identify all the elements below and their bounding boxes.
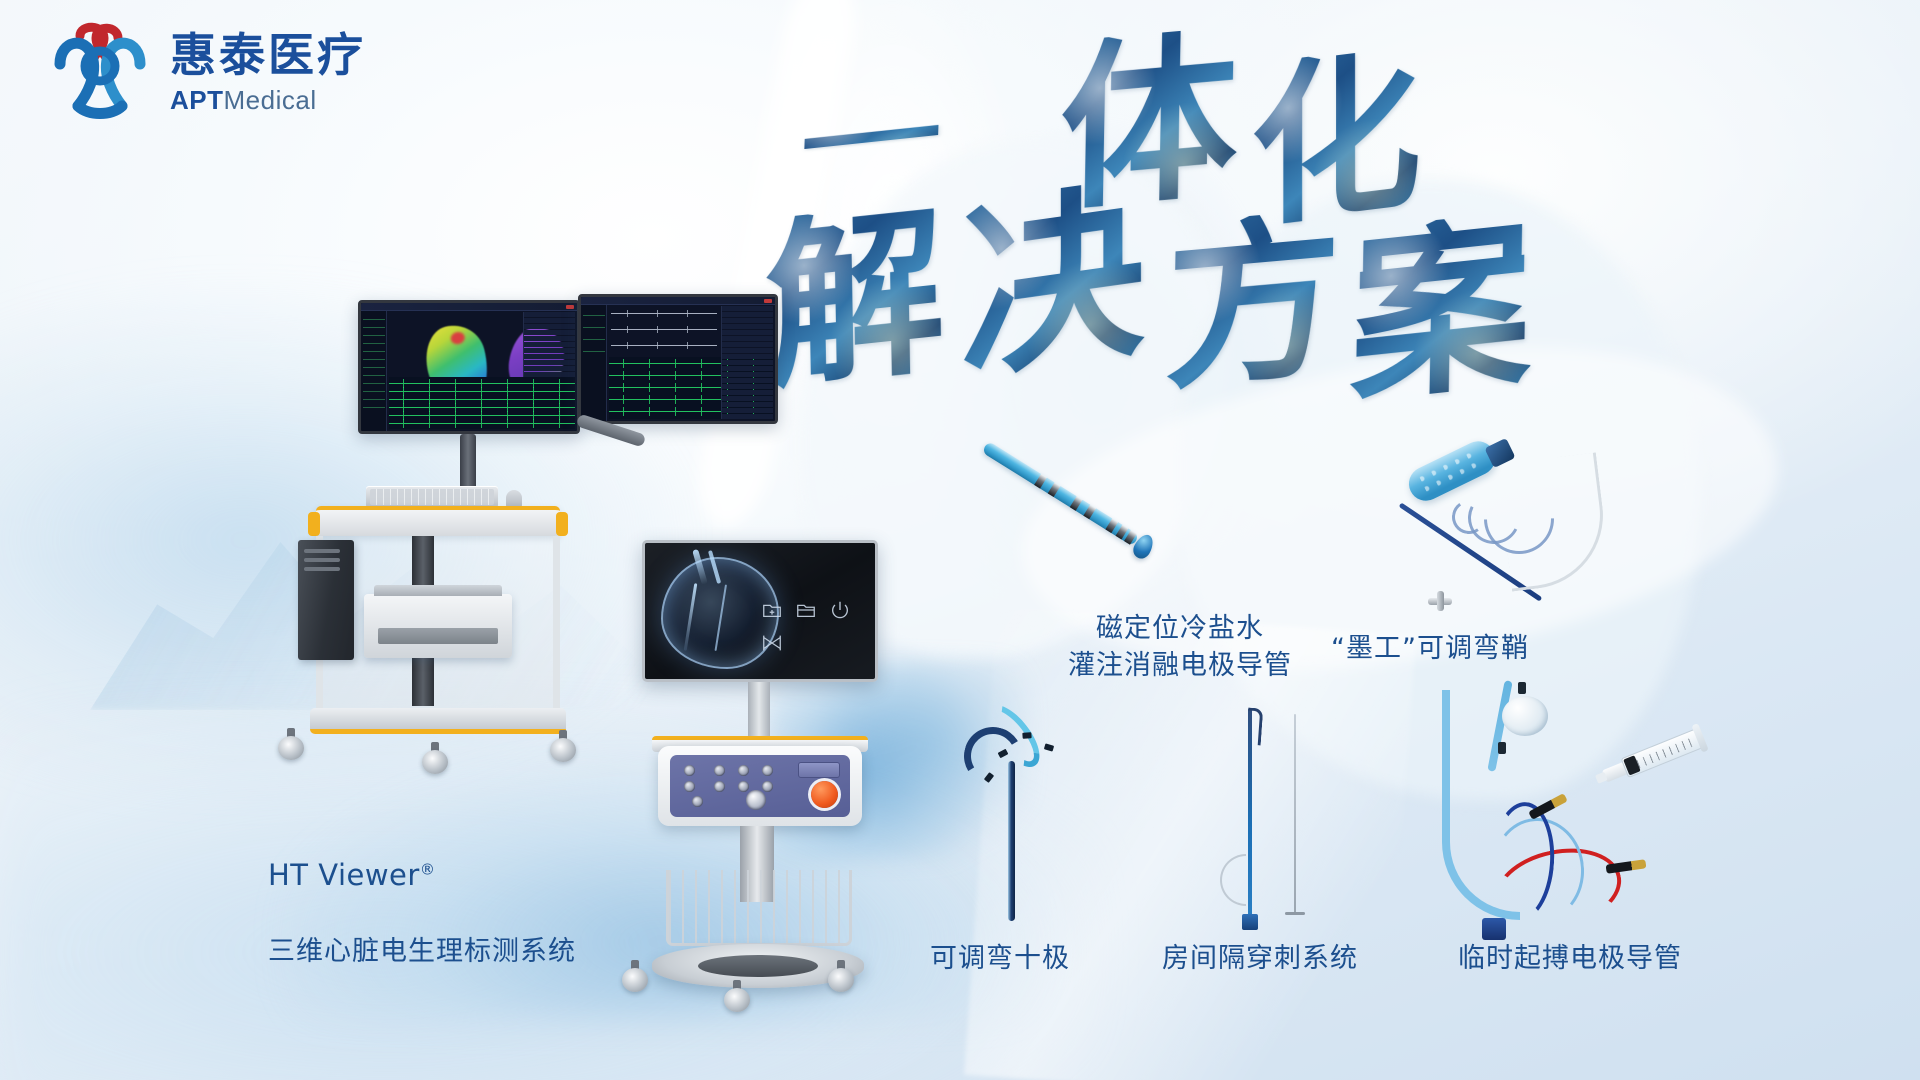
- generator-display: [798, 762, 840, 778]
- screen-toolbar-right: [581, 297, 775, 305]
- connector-port[interactable]: [738, 765, 749, 776]
- generator-cart: [630, 540, 930, 1020]
- cart-base-shelf: [310, 708, 566, 734]
- transseptal-needle: [1248, 708, 1252, 920]
- decapolar-shaft: [1008, 761, 1015, 921]
- apt-medical-logo-icon: [46, 20, 154, 124]
- connector-port[interactable]: [684, 781, 695, 792]
- label-ablation-catheter: 磁定位冷盐水 灌注消融电极导管: [1010, 610, 1350, 685]
- caster-wheel: [828, 960, 854, 992]
- connector-port[interactable]: [762, 781, 773, 792]
- transseptal-puncture-system: [1200, 700, 1320, 930]
- left-monitor-screen: [361, 303, 577, 431]
- right-monitor-screen: [581, 297, 775, 421]
- guidewire-loop: [1220, 854, 1246, 906]
- electrode-band: [1022, 732, 1031, 739]
- catheter-shaft: [982, 441, 1140, 546]
- steerable-decapolar-catheter: [950, 715, 1110, 925]
- brand-name-en-light: Medical: [224, 85, 317, 115]
- cart-wire-basket: [666, 870, 852, 946]
- connector-port[interactable]: [738, 781, 749, 792]
- inflation-syringe: [1599, 719, 1720, 791]
- hemostasis-valve: [1424, 590, 1454, 612]
- workstation-name-en: HT Viewer®: [268, 855, 588, 895]
- steerable-sheath: [1400, 440, 1700, 630]
- caster-wheel: [622, 960, 648, 992]
- emergency-stop-button[interactable]: [811, 781, 838, 808]
- screen-side-labels-right: [581, 305, 607, 421]
- workstation-name-cn: 三维心脏电生理标测系统: [268, 933, 588, 970]
- caster-wheel: [550, 730, 576, 762]
- label-pacing-catheter: 临时起搏电极导管: [1420, 940, 1720, 977]
- headline-char-1: 一: [799, 89, 943, 193]
- trademark-symbol: ®: [420, 861, 436, 879]
- power-icon[interactable]: [829, 599, 851, 621]
- electrode-band: [1044, 743, 1054, 751]
- touch-display-icon-row: [761, 599, 857, 654]
- keyboard[interactable]: [366, 486, 498, 508]
- cart-work-surface: [316, 506, 560, 536]
- new-case-folder-icon[interactable]: [761, 599, 783, 621]
- touch-display[interactable]: [642, 540, 878, 682]
- headline-char-5: 决: [961, 176, 1145, 390]
- connector-port[interactable]: [684, 765, 695, 776]
- brand-name-en-bold: APT: [170, 85, 224, 115]
- label-steerable-sheath: “墨工”可调弯鞘: [1300, 630, 1560, 667]
- poster-canvas: 惠泰医疗 APTMedical 一 体 化 解 决 方 案: [0, 0, 1920, 1080]
- computer-tower: [298, 540, 354, 660]
- headline-char-6: 方: [1164, 208, 1342, 400]
- brand-name-cn: 惠泰医疗: [170, 32, 366, 78]
- display-stem: [748, 682, 770, 738]
- irrigated-ablation-catheter: [985, 440, 1185, 600]
- brand-name-en: APTMedical: [170, 87, 366, 113]
- connector-port[interactable]: [762, 765, 773, 776]
- electrode-band: [1048, 482, 1061, 497]
- ground-port[interactable]: [692, 796, 703, 807]
- pacing-catheter-hub: [1482, 918, 1506, 940]
- rf-generator: [658, 746, 862, 826]
- connector-port[interactable]: [714, 781, 725, 792]
- main-connector-port[interactable]: [746, 790, 766, 810]
- screen-value-column-right: [721, 306, 773, 419]
- headline-calligraphy: 一 体 化 解 决 方 案: [950, 40, 1630, 360]
- calibration-icon[interactable]: [761, 632, 783, 654]
- caster-wheel: [724, 980, 750, 1012]
- electrode-band: [1070, 496, 1083, 511]
- temporary-pacing-catheter: [1440, 680, 1740, 940]
- connector-port[interactable]: [714, 765, 725, 776]
- electrode-band: [1105, 518, 1118, 533]
- pacing-electrode-band: [1518, 682, 1526, 694]
- guidewire: [1294, 714, 1296, 914]
- generator-front-panel: [670, 755, 850, 817]
- headline-char-4: 解: [764, 200, 946, 399]
- label-transseptal-system: 房间隔穿刺系统: [1130, 940, 1390, 977]
- open-folder-icon[interactable]: [795, 599, 817, 621]
- printer: [364, 594, 512, 658]
- sheath-tubing: [1497, 452, 1612, 591]
- right-monitor: [578, 294, 778, 424]
- label-workstation: HT Viewer® 三维心脏电生理标测系统: [268, 818, 588, 1007]
- needle-hub: [1242, 914, 1258, 930]
- caster-wheel: [422, 742, 448, 774]
- screen-side-channel-list: [361, 311, 387, 431]
- label-decapolar-catheter: 可调弯十极: [890, 940, 1110, 977]
- brand-logo: 惠泰医疗 APTMedical: [46, 20, 366, 124]
- ecg-trace-panel: [389, 377, 575, 429]
- screen-toolbar: [361, 303, 577, 311]
- headline-char-7: 案: [1349, 210, 1533, 412]
- left-monitor: [358, 300, 580, 434]
- pacing-balloon: [1502, 696, 1548, 736]
- electrode-band: [1034, 474, 1047, 489]
- electrode-band: [1083, 505, 1096, 520]
- pacing-electrode-band: [1498, 742, 1506, 754]
- monitor-stand: [460, 434, 476, 490]
- caster-wheel: [278, 728, 304, 760]
